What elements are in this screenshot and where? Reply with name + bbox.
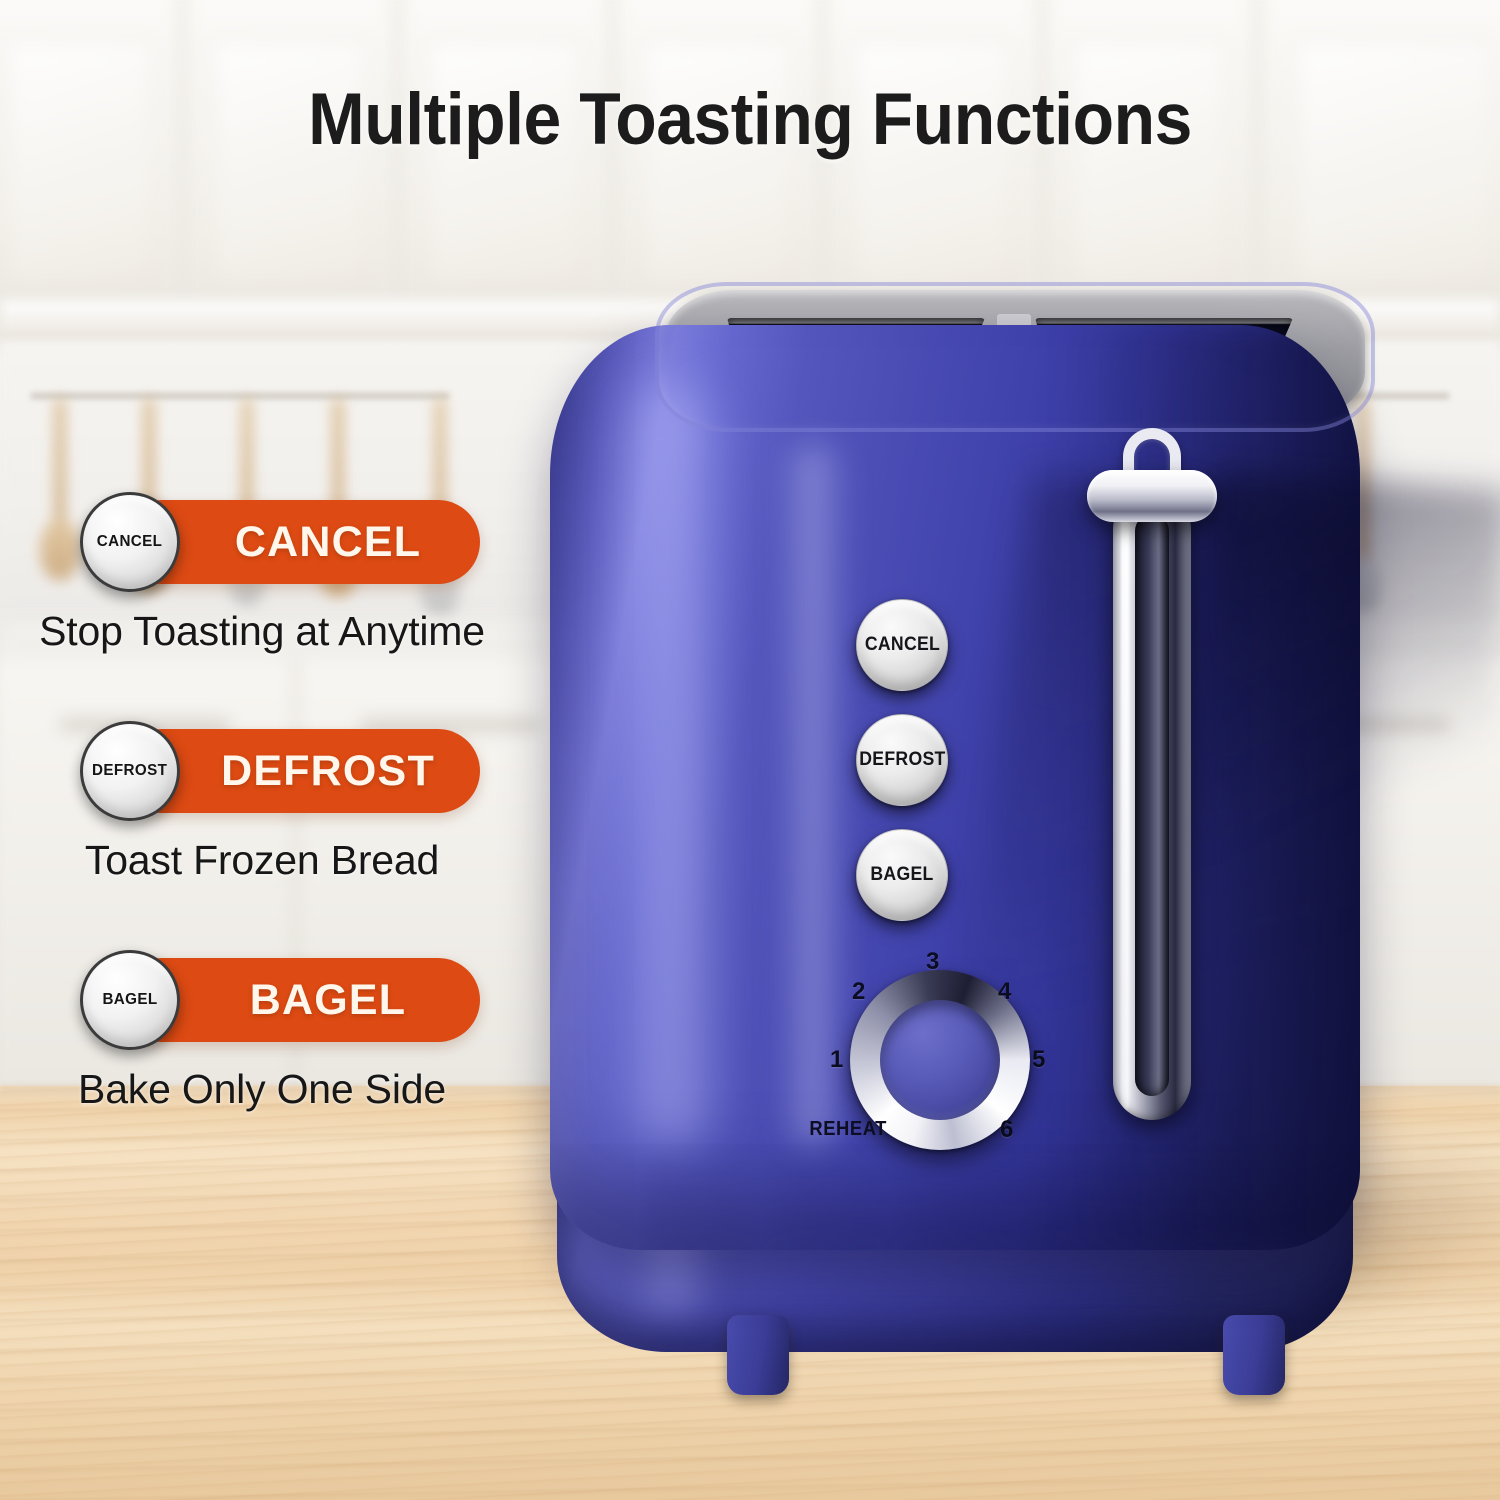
page-title: Multiple Toasting Functions [53, 78, 1448, 161]
feature-caption-defrost: Toast Frozen Bread [2, 837, 522, 884]
bagel-button-icon: BAGEL [80, 950, 180, 1050]
toaster-defrost-button-label: DEFROST [859, 749, 945, 771]
feature-caption-cancel: Stop Toasting at Anytime [2, 608, 522, 655]
feature-pill-label: BAGEL [194, 976, 407, 1025]
browning-dial[interactable]: 1 2 3 4 5 6 REHEAT [800, 930, 1090, 1180]
carriage-lever-handle[interactable] [1087, 470, 1217, 522]
carriage-lever-track [1113, 490, 1191, 1120]
dial-reheat-label: REHEAT [809, 1118, 887, 1141]
dial-number-5: 5 [1032, 1046, 1045, 1074]
defrost-button-icon: DEFROST [80, 721, 180, 821]
lever-drop-shadow [1179, 470, 1500, 970]
feature-caption-bagel: Bake Only One Side [2, 1066, 522, 1113]
dial-number-1: 1 [830, 1046, 843, 1074]
feature-pill-label: CANCEL [179, 518, 421, 567]
feature-pill-label: DEFROST [165, 747, 435, 796]
cancel-button-icon-label: CANCEL [97, 533, 163, 551]
toaster-foot-right [1223, 1315, 1285, 1395]
dial-number-4: 4 [998, 978, 1011, 1006]
toaster-bagel-button-label: BAGEL [870, 864, 933, 886]
dial-number-3: 3 [926, 948, 939, 976]
toaster-product-image: CANCEL DEFROST BAGEL 1 2 3 4 5 6 REHEAT [505, 280, 1405, 1330]
dial-number-2: 2 [852, 978, 865, 1006]
toaster-cancel-button-label: CANCEL [864, 634, 939, 656]
dial-number-6: 6 [1000, 1116, 1013, 1144]
toaster-defrost-button[interactable]: DEFROST [856, 714, 948, 806]
bagel-button-icon-label: BAGEL [102, 991, 157, 1009]
toaster-foot-left [727, 1315, 789, 1395]
toaster-bagel-button[interactable]: BAGEL [856, 829, 948, 921]
dial-cap[interactable] [880, 1000, 1000, 1120]
toaster-cancel-button[interactable]: CANCEL [856, 599, 948, 691]
cancel-button-icon: CANCEL [80, 492, 180, 592]
defrost-button-icon-label: DEFROST [92, 762, 167, 780]
hanging-utensil-icon [40, 398, 80, 598]
